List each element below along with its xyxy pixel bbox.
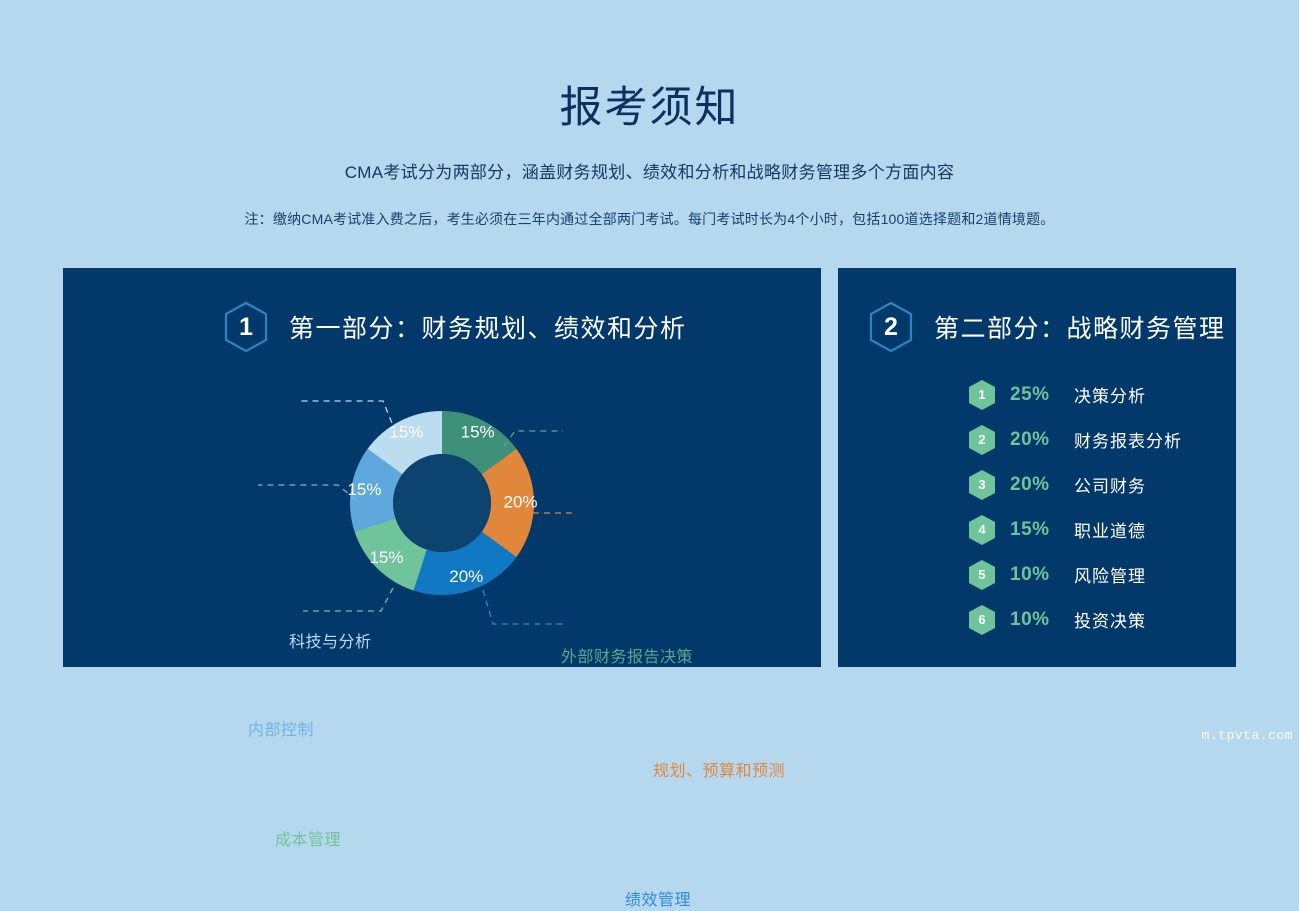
callout-external-financial-reporting: 外部财务报告决策 (561, 648, 693, 668)
donut-slice-value: 20% (449, 567, 483, 586)
page-note: 注：缴纳CMA考试准入费之后，考生必须在三年内通过全部两门考试。每门考试时长为4… (0, 209, 1299, 229)
topic-label: 决策分析 (1074, 382, 1146, 407)
topic-number: 1 (978, 388, 985, 401)
callout-internal-control: 内部控制 (248, 721, 314, 741)
donut-slice-value: 15% (369, 548, 403, 567)
part-one-card: 1 第一部分：财务规划、绩效和分析 15%20%20%15%15%15% (63, 268, 821, 667)
topic-percent: 25% (1010, 384, 1074, 406)
topic-list-item[interactable]: 415%职业道德 (968, 507, 1182, 552)
hexagon-number-icon: 5 (968, 559, 996, 591)
topic-percent: 20% (1010, 474, 1074, 496)
donut-chart-svg: 15%20%20%15%15%15% (63, 268, 821, 667)
callout-technology-analytics: 科技与分析 (289, 633, 372, 653)
page-title: 报考须知 (0, 82, 1299, 134)
topic-percent: 15% (1010, 519, 1074, 541)
callout-cost-management: 成本管理 (275, 831, 341, 851)
hexagon-number-icon: 4 (968, 514, 996, 546)
donut-chart: 15%20%20%15%15%15% 外部财务报告决策 规划、预算和预测 (63, 268, 821, 667)
topic-percent: 20% (1010, 429, 1074, 451)
callout-performance-management: 绩效管理 (625, 891, 691, 911)
donut-slice-value: 15% (461, 423, 495, 442)
callout-planning-budgeting: 规划、预算和预测 (653, 762, 785, 782)
hexagon-number-icon: 6 (968, 604, 996, 636)
part-two-header: 2 第二部分：战略财务管理 (868, 301, 1226, 353)
part-two-card: 2 第二部分：战略财务管理 125%决策分析220%财务报表分析320%公司财务… (838, 268, 1236, 667)
part-two-topic-list: 125%决策分析220%财务报表分析320%公司财务415%职业道德510%风险… (968, 372, 1182, 642)
topic-label: 职业道德 (1074, 517, 1146, 542)
topic-label: 财务报表分析 (1074, 427, 1182, 452)
hexagon-number-icon: 2 (968, 424, 996, 456)
topic-label: 投资决策 (1074, 607, 1146, 632)
topic-number: 6 (978, 613, 985, 626)
topic-list-item[interactable]: 220%财务报表分析 (968, 417, 1182, 462)
page-subtitle: CMA考试分为两部分，涵盖财务规划、绩效和分析和战略财务管理多个方面内容 (0, 161, 1299, 185)
donut-slice-value: 15% (389, 423, 423, 442)
topic-number: 2 (978, 433, 985, 446)
watermark: m.tpvta.com (1202, 728, 1293, 743)
topic-list-item[interactable]: 320%公司财务 (968, 462, 1182, 507)
topic-list-item[interactable]: 610%投资决策 (968, 597, 1182, 642)
hexagon-badge-icon: 2 (868, 301, 914, 353)
slide-root: 报考须知 CMA考试分为两部分，涵盖财务规划、绩效和分析和战略财务管理多个方面内… (0, 0, 1299, 749)
topic-number: 5 (978, 568, 985, 581)
topic-percent: 10% (1010, 609, 1074, 631)
topic-percent: 10% (1010, 564, 1074, 586)
topic-label: 公司财务 (1074, 472, 1146, 497)
topic-list-item[interactable]: 510%风险管理 (968, 552, 1182, 597)
topic-list-item[interactable]: 125%决策分析 (968, 372, 1182, 417)
topic-number: 4 (978, 523, 985, 536)
donut-slice-value: 20% (503, 492, 537, 511)
donut-hole (393, 454, 491, 552)
part-two-title: 第二部分：战略财务管理 (934, 309, 1226, 345)
hexagon-number-icon: 1 (968, 379, 996, 411)
topic-label: 风险管理 (1074, 562, 1146, 587)
topic-number: 3 (978, 478, 985, 491)
hexagon-number-icon: 3 (968, 469, 996, 501)
part-two-badge-number: 2 (884, 315, 898, 340)
